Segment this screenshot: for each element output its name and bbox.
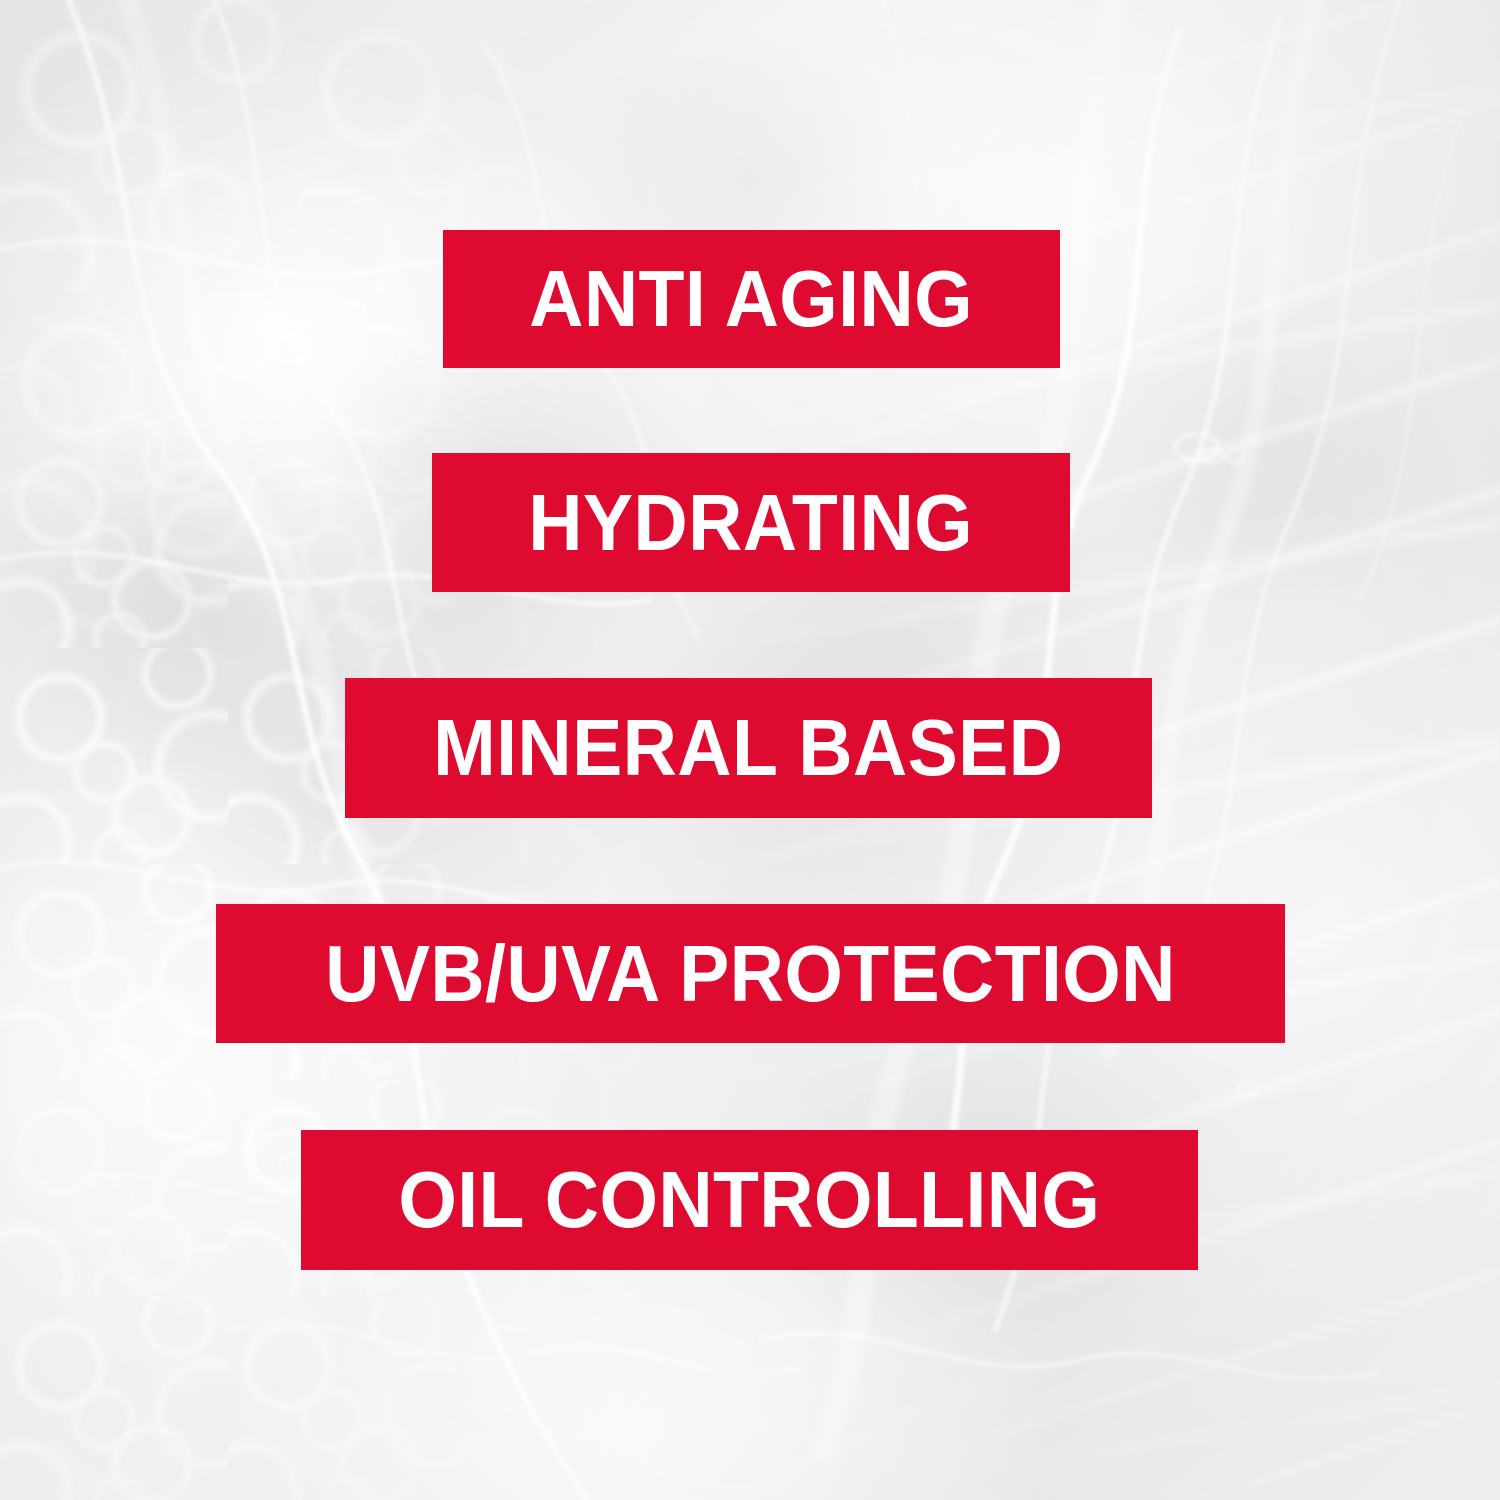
benefit-label-uvb-uva-protection: UVB/UVA PROTECTION (325, 934, 1176, 1014)
benefit-label-anti-aging: ANTI AGING (530, 259, 974, 339)
benefit-bar-mineral-based[interactable]: MINERAL BASED (345, 678, 1152, 818)
benefit-bar-list: ANTI AGING HYDRATING MINERAL BASED UVB/U… (0, 0, 1500, 1500)
benefit-bar-uvb-uva-protection[interactable]: UVB/UVA PROTECTION (216, 904, 1285, 1043)
benefit-label-hydrating: HYDRATING (529, 483, 974, 563)
benefit-bar-oil-controlling[interactable]: OIL CONTROLLING (301, 1130, 1198, 1270)
benefit-bar-hydrating[interactable]: HYDRATING (432, 453, 1070, 592)
benefit-label-oil-controlling: OIL CONTROLLING (399, 1160, 1101, 1240)
benefit-label-mineral-based: MINERAL BASED (433, 708, 1063, 788)
benefit-bar-anti-aging[interactable]: ANTI AGING (443, 230, 1060, 368)
product-benefits-banner: ANTI AGING HYDRATING MINERAL BASED UVB/U… (0, 0, 1500, 1500)
